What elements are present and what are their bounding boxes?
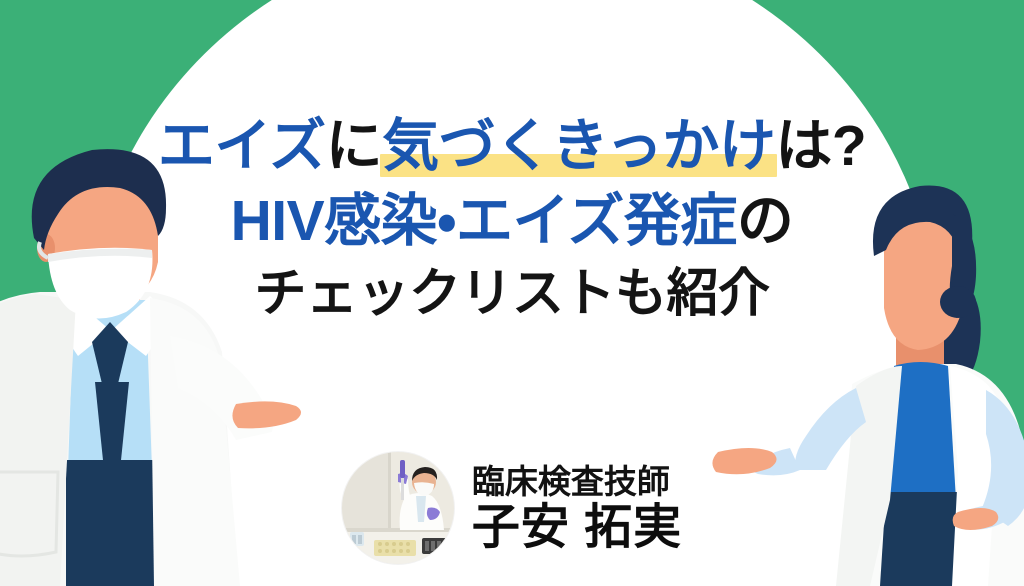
- lab-technician-photo-icon: [342, 452, 454, 564]
- byline-text-group: 臨床検査技師 子安 拓実: [472, 465, 682, 552]
- author-name: 子安 拓実: [472, 504, 682, 552]
- banner-canvas: エイズに気づくきっかけは? HIV感染・エイズ発症の チェックリストも紹介: [0, 0, 1024, 586]
- avatar: [342, 452, 454, 564]
- author-byline: 臨床検査技師 子安 拓実: [0, 452, 1024, 564]
- author-role: 臨床検査技師: [472, 465, 670, 498]
